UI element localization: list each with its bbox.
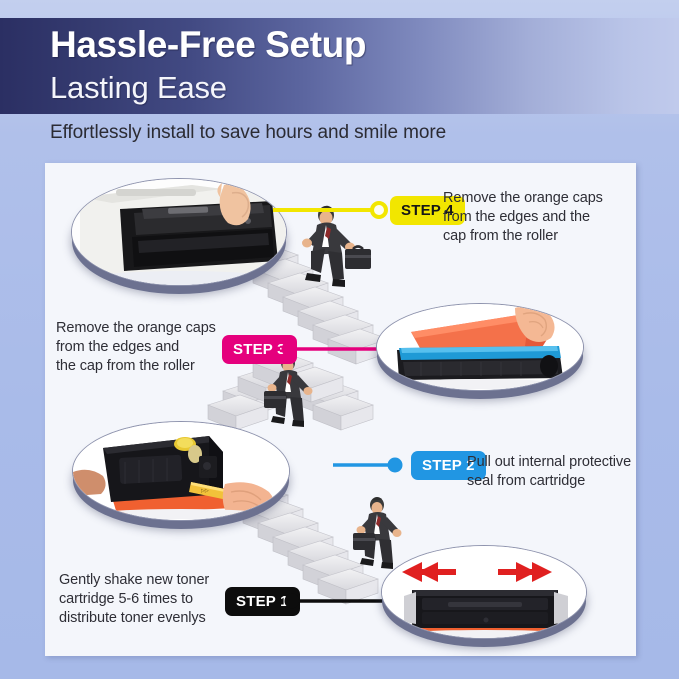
step-3-photo bbox=[376, 303, 584, 391]
step-1-badge-label: STEP 1 bbox=[236, 593, 289, 610]
step-2-connector bbox=[333, 456, 409, 474]
page-subtitle: Lasting Ease bbox=[50, 68, 650, 108]
step-4-description: Remove the orange caps from the edges an… bbox=[443, 189, 633, 246]
step-4-connector bbox=[273, 201, 393, 219]
step-3-badge-label: STEP 3 bbox=[233, 341, 286, 358]
steps-panel: STEP 4 Remove the orange caps from the e… bbox=[45, 163, 636, 656]
header-banner-text: Hassle-Free Setup Lasting Ease bbox=[50, 22, 650, 108]
step-2-photo: ▷▷ bbox=[72, 421, 290, 521]
step-2-description: Pull out internal protective seal from c… bbox=[467, 453, 647, 491]
step-4-photo bbox=[71, 178, 287, 286]
tagline: Effortlessly install to save hours and s… bbox=[50, 122, 446, 144]
step-3-description: Remove the orange caps from the edges an… bbox=[56, 319, 241, 376]
header-banner: Hassle-Free Setup Lasting Ease bbox=[0, 18, 679, 114]
step-1-description: Gently shake new toner cartridge 5-6 tim… bbox=[59, 571, 244, 628]
infographic-root: Hassle-Free Setup Lasting Ease Effortles… bbox=[0, 0, 679, 679]
svg-text:▷▷: ▷▷ bbox=[201, 488, 209, 494]
step-1-photo bbox=[381, 545, 587, 639]
page-title: Hassle-Free Setup bbox=[50, 22, 650, 68]
